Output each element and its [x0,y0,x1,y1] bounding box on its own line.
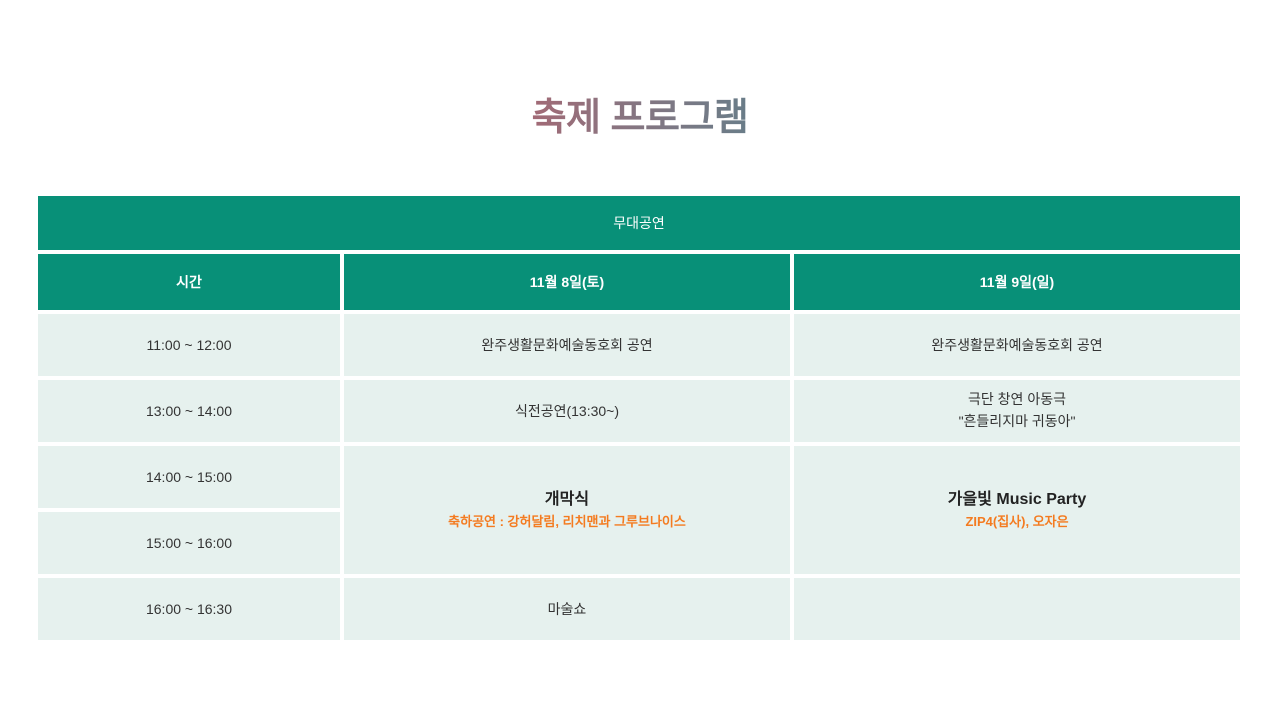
page-title: 축제 프로그램 [0,96,1280,142]
cell-day1-opening-ceremony: 개막식 축하공연 : 강허달림, 리치맨과 그루브나이스 [344,446,790,574]
table-section-header-row: 무대공연 [38,196,1240,250]
cell-day1-2: 식전공연(13:30~) [344,380,790,442]
cell-day2-2: 극단 창연 아동극 "흔들리지마 귀동아" [794,380,1240,442]
cell-time-5: 16:00 ~ 16:30 [38,578,340,640]
cell-day2-music-party: 가을빛 Music Party ZIP4(집사), 오자은 [794,446,1240,574]
slide-canvas: 축제 프로그램 무대공연 시간 11월 8일(토) 11월 9일(일) 11:0… [0,0,1280,720]
cell-time-2: 13:00 ~ 14:00 [38,380,340,442]
cell-day2-2-line1: 극단 창연 아동극 [794,389,1240,411]
opening-ceremony-lineup: 축하공연 : 강허달림, 리치맨과 그루브나이스 [344,512,790,533]
table-row: 13:00 ~ 14:00 식전공연(13:30~) 극단 창연 아동극 "흔들… [38,380,1240,442]
cell-time-3: 14:00 ~ 15:00 [38,446,340,508]
opening-ceremony-title: 개막식 [344,488,790,512]
cell-time-4: 15:00 ~ 16:00 [38,512,340,574]
festival-program-table: 무대공연 시간 11월 8일(토) 11월 9일(일) 11:00 ~ 12:0… [34,192,1244,644]
music-party-title: 가을빛 Music Party [794,488,1240,512]
cell-day1-1: 완주생활문화예술동호회 공연 [344,314,790,376]
table-row: 11:00 ~ 12:00 완주생활문화예술동호회 공연 완주생활문화예술동호회… [38,314,1240,376]
cell-time-1: 11:00 ~ 12:00 [38,314,340,376]
cell-day2-2-line2: "흔들리지마 귀동아" [794,411,1240,433]
column-header-time: 시간 [38,254,340,310]
cell-day2-5 [794,578,1240,640]
music-party-lineup: ZIP4(집사), 오자은 [794,512,1240,533]
section-header-stage-performance: 무대공연 [38,196,1240,250]
table-column-header-row: 시간 11월 8일(토) 11월 9일(일) [38,254,1240,310]
table-row: 14:00 ~ 15:00 개막식 축하공연 : 강허달림, 리치맨과 그루브나… [38,446,1240,508]
column-header-day2: 11월 9일(일) [794,254,1240,310]
column-header-day1: 11월 8일(토) [344,254,790,310]
cell-day1-5: 마술쇼 [344,578,790,640]
cell-day2-1: 완주생활문화예술동호회 공연 [794,314,1240,376]
table-row: 16:00 ~ 16:30 마술쇼 [38,578,1240,640]
